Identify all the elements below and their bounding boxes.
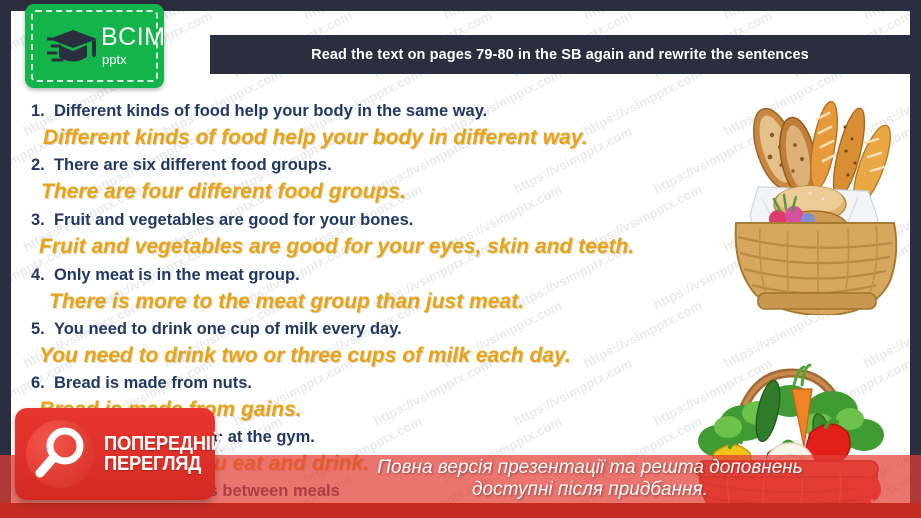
watermark-text: https://vsimpptx.com [301, 11, 424, 22]
question-1-text: Different kinds of food help your body i… [54, 102, 487, 120]
question-3-number: 3. [31, 211, 45, 229]
question-3: 3. Fruit and vegetables are good for you… [31, 212, 413, 229]
purchase-banner-line1: Повна версія презентації та решта доповн… [377, 457, 802, 479]
watermark-text: https://vsimpptx.com [161, 11, 284, 22]
question-6: 6. Bread is made from nuts. [31, 375, 252, 392]
purchase-banner-line2: доступні після придбання. [472, 479, 708, 501]
graduation-cap-icon [47, 26, 99, 70]
answer-3: Fruit and vegetables are good for your e… [39, 236, 634, 257]
preview-badge-line2: ПЕРЕГЛЯД [104, 454, 224, 474]
question-1: 1. Different kinds of food help your bod… [31, 103, 487, 120]
answer-4: There is more to the meat group than jus… [49, 291, 524, 312]
watermark-text: https://vsimpptx.com [861, 11, 910, 22]
logo-title: BCIM [101, 25, 166, 50]
purchase-banner-strip [0, 503, 921, 518]
logo-text: BCIM pptx [101, 25, 166, 66]
question-2: 2. There are six different food groups. [31, 157, 332, 174]
question-5-text: You need to drink one cup of milk every … [54, 320, 402, 338]
preview-badge[interactable]: ПОПЕРЕДНІЙ ПЕРЕГЛЯД [15, 408, 215, 500]
preview-badge-line1: ПОПЕРЕДНІЙ [104, 434, 224, 454]
magnifier-icon [26, 420, 94, 488]
logo-subtitle: pptx [102, 53, 166, 66]
slide-title-bar: Read the text on pages 79-80 in the SB a… [210, 35, 910, 74]
question-6-number: 6. [31, 374, 45, 392]
watermark-text: https://vsimpptx.com [721, 11, 844, 22]
watermark-text: https://vsimpptx.com [441, 11, 564, 22]
question-4-text: Only meat is in the meat group. [54, 266, 300, 284]
question-6-text: Bread is made from nuts. [54, 374, 252, 392]
watermark-text: https://vsimpptx.com [581, 66, 704, 139]
bread-basket-image [718, 87, 908, 315]
question-3-text: Fruit and vegetables are good for your b… [54, 211, 413, 229]
watermark-text: https://vsimpptx.com [581, 11, 704, 22]
question-2-text: There are six different food groups. [54, 156, 332, 174]
question-5: 5. You need to drink one cup of milk eve… [31, 321, 402, 338]
answer-5: You need to drink two or three cups of m… [39, 345, 571, 366]
question-5-number: 5. [31, 320, 45, 338]
bcim-logo[interactable]: BCIM pptx [25, 4, 164, 88]
answer-1: Different kinds of food help your body i… [43, 127, 587, 148]
answer-2: There are four different food groups. [41, 181, 406, 202]
question-4-number: 4. [31, 266, 45, 284]
question-2-number: 2. [31, 156, 45, 174]
slide-canvas: 1. Different kinds of food help your bod… [0, 0, 921, 518]
preview-badge-text: ПОПЕРЕДНІЙ ПЕРЕГЛЯД [104, 434, 234, 475]
purchase-banner-text: Повна версія презентації та решта доповн… [310, 455, 870, 503]
question-4: 4. Only meat is in the meat group. [31, 267, 300, 284]
slide-title: Read the text on pages 79-80 in the SB a… [311, 47, 809, 63]
question-1-number: 1. [31, 102, 45, 120]
